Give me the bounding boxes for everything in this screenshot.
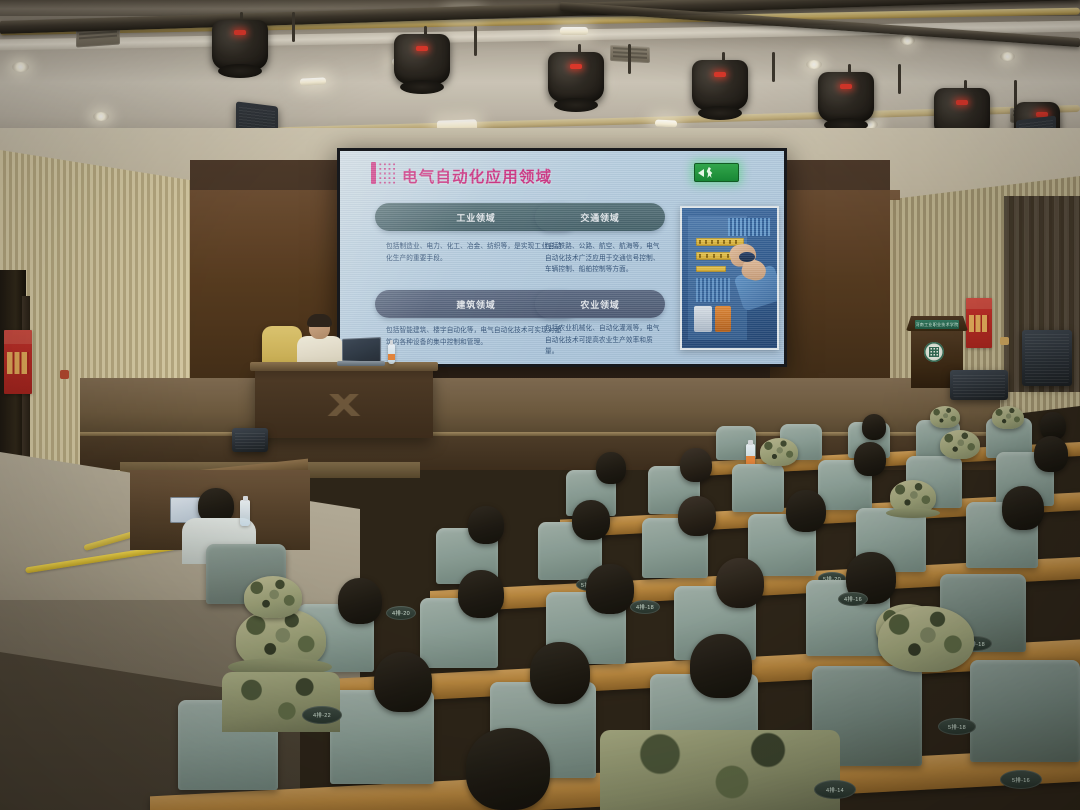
slide-card-heading-transport: 交通领域: [535, 203, 665, 231]
camo-cap: [760, 438, 798, 466]
seat[interactable]: [970, 660, 1080, 762]
slide-card-body-agriculture: 包括农业机械化、自动化灌溉等，电气自动化技术可提高农业生产效率和质量。: [545, 323, 665, 358]
seat-number-plate: 4排-14: [814, 780, 856, 799]
seat-number: 4排-22: [313, 711, 331, 719]
stage-monitor-speaker: [950, 370, 1008, 400]
camo-cap: [878, 606, 974, 672]
audience-head: [1034, 436, 1068, 472]
seat-number: 4排-14: [826, 786, 844, 794]
ceiling-downlight: [900, 36, 915, 45]
fire-alarm-button: [60, 370, 69, 379]
camo-cap: [930, 406, 960, 428]
stage-monitor-speaker: [232, 428, 268, 452]
water-bottle: [388, 344, 395, 364]
exit-sign: [694, 163, 739, 182]
seat-number-plate: 4排-20: [386, 606, 416, 620]
seat-number-plate: 4排-22: [302, 706, 342, 724]
wall-poster-right: [966, 298, 992, 348]
seat-number-plate: 5排-18: [938, 718, 976, 735]
slide-card-body-industrial: 包括制造业、电力、化工、冶金、纺织等，是实现工业自动化生产的重要手段。: [386, 241, 566, 264]
audience-head: [458, 570, 504, 618]
ceiling-downlight: [12, 62, 29, 72]
audience-head: [678, 496, 716, 536]
podium-nameplate: 河南工业职业技术学院: [915, 320, 959, 329]
stage-monitor-speaker: [1022, 330, 1072, 386]
audience-head: [468, 506, 504, 544]
audience-head: [596, 452, 626, 484]
running-man-exit-icon: [706, 167, 713, 178]
dotted-grid-icon: [371, 161, 397, 185]
ceiling-downlight: [806, 60, 822, 69]
audience-head: [466, 728, 550, 810]
camo-cap: [992, 406, 1024, 429]
slide-title: 电气自动化应用领域: [402, 165, 552, 187]
seat[interactable]: [732, 464, 784, 512]
slide-card-body-transport: 包括铁路、公路、航空、航海等，电气自动化技术广泛应用于交通信号控制、车辆控制、船…: [545, 241, 665, 276]
ceiling-downlight: [93, 112, 109, 121]
seat-number-plate: 4排-16: [838, 592, 868, 606]
audience-head: [690, 634, 752, 698]
ceiling-downlight: [655, 119, 677, 127]
exit-arrow-icon: [698, 169, 704, 177]
audience-head: [530, 642, 590, 704]
wall-poster-left: [4, 330, 32, 394]
camo-cap: [940, 430, 980, 459]
slide-card-heading-agriculture: 农业领域: [535, 290, 665, 318]
slide-photo-control-panel: [680, 206, 779, 350]
seat-number-plate: 5排-16: [1000, 770, 1042, 789]
auditorium-photo: 电气自动化应用领域 工业领域 包括制造业、电力、化工、冶金、纺织等，是实现工业自…: [0, 0, 1080, 810]
ceiling-downlight: [300, 77, 326, 85]
seat-number: 5排-16: [1012, 776, 1030, 784]
audience-head: [1002, 486, 1044, 530]
seat-number: 4排-16: [844, 595, 862, 603]
speaker-laptop[interactable]: [340, 338, 384, 366]
audience-head: [374, 652, 432, 712]
camo-cap-brim: [886, 508, 940, 518]
slide-surface: 电气自动化应用领域 工业领域 包括制造业、电力、化工、冶金、纺织等，是实现工业自…: [340, 151, 784, 364]
seat-number: 4排-18: [636, 603, 654, 611]
audience-head: [716, 558, 764, 608]
podium-nameplate-text: 河南工业职业技术学院: [916, 322, 959, 328]
audience-head: [572, 500, 610, 540]
slide-card-body-building: 包括智能建筑、楼宇自动化等，电气自动化技术可实现对建筑内各种设备的集中控制和管理…: [386, 325, 566, 348]
camo-uniform: [600, 730, 840, 810]
camo-cap: [244, 576, 302, 618]
seat-number: 5排-18: [948, 723, 966, 731]
audience-head: [786, 490, 826, 532]
audience-head: [854, 442, 886, 476]
speaker-desk: [255, 368, 433, 438]
ceiling-downlight: [1000, 52, 1015, 61]
seat-number-plate: 4排-18: [630, 600, 660, 614]
audience-head: [338, 578, 382, 624]
audience-head: [862, 414, 886, 440]
wall-outlet: [1000, 337, 1009, 345]
stage-wood-panel: [770, 190, 900, 390]
audience-head: [680, 448, 712, 482]
seat-number: 4排-20: [392, 609, 410, 617]
school-emblem-icon: [924, 342, 944, 362]
water-bottle: [240, 500, 250, 526]
audience-head: [586, 564, 634, 614]
ceiling-downlight: [560, 27, 588, 35]
